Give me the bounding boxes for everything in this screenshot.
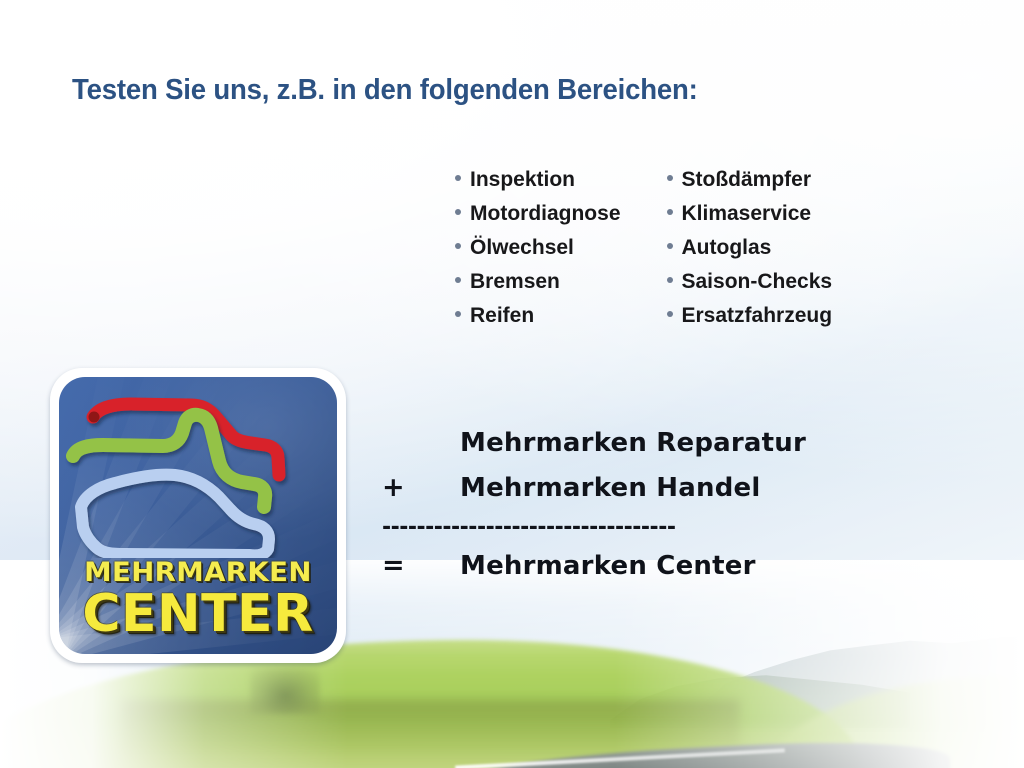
bullet-icon xyxy=(455,243,461,249)
bullet-icon xyxy=(667,277,673,283)
slide-canvas: Testen Sie uns, z.B. in den folgenden Be… xyxy=(0,0,1024,768)
service-label: Reifen xyxy=(470,299,534,333)
logo-wordmark: MEHRMARKEN CENTER xyxy=(59,559,337,640)
background-bush xyxy=(250,668,320,714)
service-label: Motordiagnose xyxy=(470,197,621,231)
equation-result: Mehrmarken Center xyxy=(460,551,756,581)
bullet-icon xyxy=(455,277,461,283)
list-item: Stoßdämpfer xyxy=(667,163,833,197)
list-item: Ersatzfahrzeug xyxy=(667,299,833,333)
bullet-icon xyxy=(667,175,673,181)
equation-operator-plus: + xyxy=(382,472,460,503)
background-green-hill-right xyxy=(760,676,1024,768)
service-label: Bremsen xyxy=(470,265,560,299)
background-scrub-band xyxy=(120,700,740,760)
list-item: Klimaservice xyxy=(667,197,833,231)
service-label: Saison-Checks xyxy=(682,265,833,299)
bullet-icon xyxy=(455,175,461,181)
bullet-icon xyxy=(667,209,673,215)
bullet-icon xyxy=(455,311,461,317)
service-label: Inspektion xyxy=(470,163,575,197)
equation-row-3: = Mehrmarken Center xyxy=(382,550,892,596)
service-label: Klimaservice xyxy=(682,197,812,231)
service-label: Autoglas xyxy=(682,231,772,265)
list-item: Autoglas xyxy=(667,231,833,265)
list-item: Motordiagnose xyxy=(455,197,621,231)
services-column-right: Stoßdämpfer Klimaservice Autoglas Saison… xyxy=(667,163,833,333)
logo-car-silhouettes xyxy=(59,383,337,558)
service-label: Stoßdämpfer xyxy=(682,163,812,197)
logo-word-mehrmarken: MEHRMARKEN xyxy=(59,559,337,586)
logo-blue-panel: MEHRMARKEN CENTER xyxy=(59,377,337,654)
list-item: Bremsen xyxy=(455,265,621,299)
equation-block: Mehrmarken Reparatur + Mehrmarken Handel… xyxy=(382,428,892,596)
background-mountain-ridge-near xyxy=(610,648,910,728)
list-item: Ölwechsel xyxy=(455,231,621,265)
list-item: Inspektion xyxy=(455,163,621,197)
equation-term: Mehrmarken Reparatur xyxy=(460,428,806,458)
background-road xyxy=(429,734,950,768)
equation-row-1: Mehrmarken Reparatur xyxy=(382,428,892,472)
equation-row-2: + Mehrmarken Handel xyxy=(382,472,892,518)
equation-operator-equals: = xyxy=(382,550,460,581)
bullet-icon xyxy=(455,209,461,215)
services-lists: Inspektion Motordiagnose Ölwechsel Brems… xyxy=(455,163,832,333)
equation-term: Mehrmarken Handel xyxy=(460,473,760,503)
service-label: Ölwechsel xyxy=(470,231,574,265)
bullet-icon xyxy=(667,311,673,317)
equation-divider-rule: ---------------------------------- xyxy=(382,518,892,550)
list-item: Reifen xyxy=(455,299,621,333)
mehrmarken-center-logo: MEHRMARKEN CENTER xyxy=(50,368,346,663)
service-label: Ersatzfahrzeug xyxy=(682,299,833,333)
background-mountain-ridge xyxy=(700,612,1024,732)
page-title: Testen Sie uns, z.B. in den folgenden Be… xyxy=(72,74,698,107)
bullet-icon xyxy=(667,243,673,249)
logo-word-center: CENTER xyxy=(59,588,337,640)
list-item: Saison-Checks xyxy=(667,265,833,299)
background-road-marking xyxy=(455,748,785,768)
services-column-left: Inspektion Motordiagnose Ölwechsel Brems… xyxy=(455,163,621,333)
